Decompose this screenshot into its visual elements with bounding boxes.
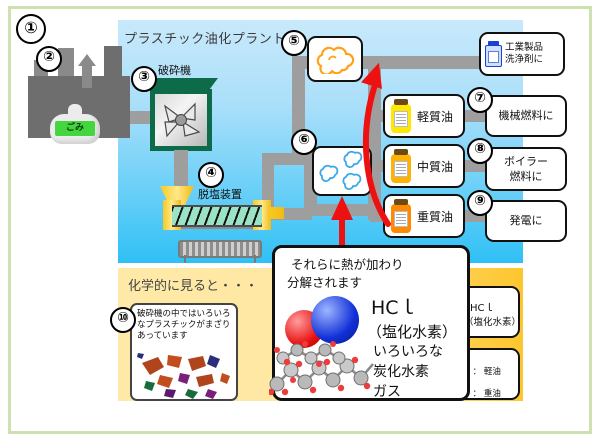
screw-conveyor-icon (172, 205, 262, 227)
hcl-box-formula: HCｌ (470, 299, 495, 314)
desalination-label: 脱塩装置 (198, 186, 242, 202)
gas-cloud-card (307, 36, 363, 82)
callout-line-1: それらに熱が加わり (291, 256, 404, 273)
callout-line-2: 分解されます (287, 274, 362, 291)
callout-gas-line-3: ガス (373, 384, 401, 401)
red-arrow-to-gas (358, 38, 412, 232)
chemistry-title: 化学的に見ると・・・ (128, 275, 258, 294)
use-label-boiler-1: ボイラー (487, 154, 565, 169)
use-label-boiler-2: 燃料に (487, 169, 565, 184)
use-label-machine: 機械燃料に (487, 109, 565, 123)
garbage-bag-icon: ごみ (50, 104, 100, 144)
marker-1: ① (16, 14, 46, 44)
shredded-plastic-box: 破砕機の中ではいろいろなプラスチックがまざりあっています (130, 303, 238, 401)
shredded-plastic-note: 破砕機の中ではいろいろなプラスチックがまざりあっています (137, 309, 235, 342)
marker-2: ② (36, 46, 62, 72)
callout-hcl-name: （塩化水素） (367, 324, 457, 341)
marker-10: ⑩ (110, 307, 136, 333)
diagram-root: ① プラスチック油化プラント ② ごみ ③ 破砕機 (0, 0, 600, 443)
use-card-power-generation: 発電に (485, 200, 567, 242)
fan-blades-icon (155, 94, 207, 146)
marker-4: ④ (198, 162, 224, 188)
oil-label-medium: 中質油 (417, 158, 453, 175)
gas-cloud-icon (313, 44, 357, 74)
plant-title: プラスチック油化プラント (124, 28, 286, 47)
plastic-fragments-icon (134, 343, 238, 401)
cleaning-jar-icon (485, 41, 502, 67)
oil-label-light: 軽質油 (417, 108, 453, 125)
callout-gas-line-2: 炭化水素 (373, 364, 429, 381)
garbage-bag-label: ごみ (55, 121, 95, 136)
marker-6: ⑥ (291, 129, 317, 155)
hcl-box-name: （塩化水素） (464, 314, 521, 328)
callout-gas-line-1: いろいろな (373, 344, 443, 361)
marker-8: ⑧ (467, 138, 493, 164)
marker-9: ⑨ (467, 190, 493, 216)
decomposition-callout: それらに熱が加わり 分解されます HCｌ （塩化水素） (272, 245, 470, 401)
chlorine-sphere-icon (311, 296, 359, 344)
marker-3: ③ (131, 66, 157, 92)
marker-5: ⑤ (281, 30, 307, 56)
use-label-power: 発電に (487, 214, 565, 228)
use-card-industrial: 工業製品 洗浄剤に (479, 32, 565, 76)
callout-hcl-formula: HCｌ (371, 300, 418, 317)
shredder-icon (150, 78, 212, 156)
shredder-label: 破砕機 (158, 62, 191, 78)
marker-7: ⑦ (467, 87, 493, 113)
use-label-industrial-2: 洗浄剤に (505, 54, 543, 66)
use-card-machine-fuel: 機械燃料に (485, 95, 567, 137)
oil-label-heavy: 重質油 (417, 208, 453, 225)
use-card-boiler-fuel: ボイラー 燃料に (485, 147, 567, 191)
heater-coil-icon (178, 240, 262, 258)
use-label-industrial-1: 工業製品 (505, 42, 543, 54)
